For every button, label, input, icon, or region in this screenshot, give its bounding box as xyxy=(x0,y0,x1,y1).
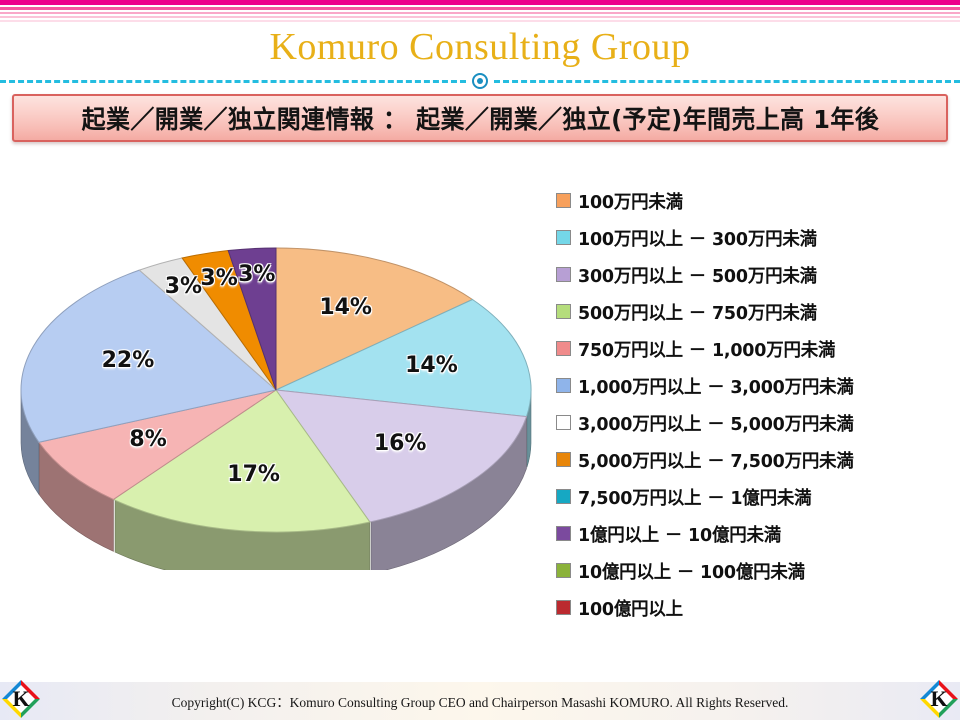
logo-letter-left: K xyxy=(0,678,42,720)
legend-item[interactable]: 1億円以上 － 10億円未満 xyxy=(556,515,956,552)
legend-label: 1億円以上 － 10億円未満 xyxy=(578,521,781,547)
legend-label: 100万円未満 xyxy=(578,188,683,214)
subtitle-text: 起業／開業／独立関連情報 ： 起業／開業／独立(予定)年間売上高 1年後 xyxy=(81,100,879,136)
legend-item[interactable]: 300万円以上 － 500万円未満 xyxy=(556,256,956,293)
pie-chart: 14%14%16%17%8%22%3%3%3% xyxy=(8,210,548,570)
logo-left: K xyxy=(0,678,42,720)
legend-item[interactable]: 100億円以上 xyxy=(556,589,956,626)
legend-swatch-icon xyxy=(556,489,571,504)
logo-right: K xyxy=(918,678,960,720)
legend-swatch-icon xyxy=(556,341,571,356)
logo-letter-right: K xyxy=(918,678,960,720)
decorative-top-stripes xyxy=(0,0,960,22)
legend-label: 5,000万円以上 － 7,500万円未満 xyxy=(578,447,854,473)
legend-label: 100万円以上 － 300万円未満 xyxy=(578,225,817,251)
legend-swatch-icon xyxy=(556,230,571,245)
legend-item[interactable]: 100万円以上 － 300万円未満 xyxy=(556,219,956,256)
copyright-text: Copyright(C) KCG：Komuro Consulting Group… xyxy=(0,691,960,711)
legend-swatch-icon xyxy=(556,267,571,282)
legend-item[interactable]: 500万円以上 － 750万円未満 xyxy=(556,293,956,330)
legend-item[interactable]: 5,000万円以上 － 7,500万円未満 xyxy=(556,441,956,478)
page-title: Komuro Consulting Group xyxy=(0,23,960,71)
legend-swatch-icon xyxy=(556,526,571,541)
bullseye-icon xyxy=(472,73,488,89)
footer-bar: Copyright(C) KCG：Komuro Consulting Group… xyxy=(0,682,960,720)
legend-item[interactable]: 1,000万円以上 － 3,000万円未満 xyxy=(556,367,956,404)
divider-dashed-line-left xyxy=(0,80,466,83)
pie-chart-svg xyxy=(8,210,548,570)
chart-area: 14%14%16%17%8%22%3%3%3% 100万円未満100万円以上 －… xyxy=(0,160,960,660)
legend-label: 10億円以上 － 100億円未満 xyxy=(578,558,805,584)
legend-swatch-icon xyxy=(556,600,571,615)
legend-swatch-icon xyxy=(556,304,571,319)
legend-swatch-icon xyxy=(556,452,571,467)
legend-swatch-icon xyxy=(556,563,571,578)
legend-item[interactable]: 10億円以上 － 100億円未満 xyxy=(556,552,956,589)
subtitle-banner: 起業／開業／独立関連情報 ： 起業／開業／独立(予定)年間売上高 1年後 xyxy=(12,94,948,142)
legend-swatch-icon xyxy=(556,193,571,208)
title-divider xyxy=(0,72,960,90)
stripe-8 xyxy=(0,20,960,22)
legend-item[interactable]: 3,000万円以上 － 5,000万円未満 xyxy=(556,404,956,441)
legend-label: 7,500万円以上 － 1億円未満 xyxy=(578,484,811,510)
legend-label: 1,000万円以上 － 3,000万円未満 xyxy=(578,373,854,399)
legend-swatch-icon xyxy=(556,415,571,430)
legend-label: 100億円以上 xyxy=(578,595,683,621)
chart-legend: 100万円未満100万円以上 － 300万円未満300万円以上 － 500万円未… xyxy=(556,182,956,626)
legend-item[interactable]: 750万円以上 － 1,000万円未満 xyxy=(556,330,956,367)
legend-label: 500万円以上 － 750万円未満 xyxy=(578,299,817,325)
legend-label: 750万円以上 － 1,000万円未満 xyxy=(578,336,835,362)
legend-item[interactable]: 100万円未満 xyxy=(556,182,956,219)
legend-label: 3,000万円以上 － 5,000万円未満 xyxy=(578,410,854,436)
legend-label: 300万円以上 － 500万円未満 xyxy=(578,262,817,288)
legend-swatch-icon xyxy=(556,378,571,393)
legend-item[interactable]: 7,500万円以上 － 1億円未満 xyxy=(556,478,956,515)
divider-dashed-line-right xyxy=(494,80,960,83)
